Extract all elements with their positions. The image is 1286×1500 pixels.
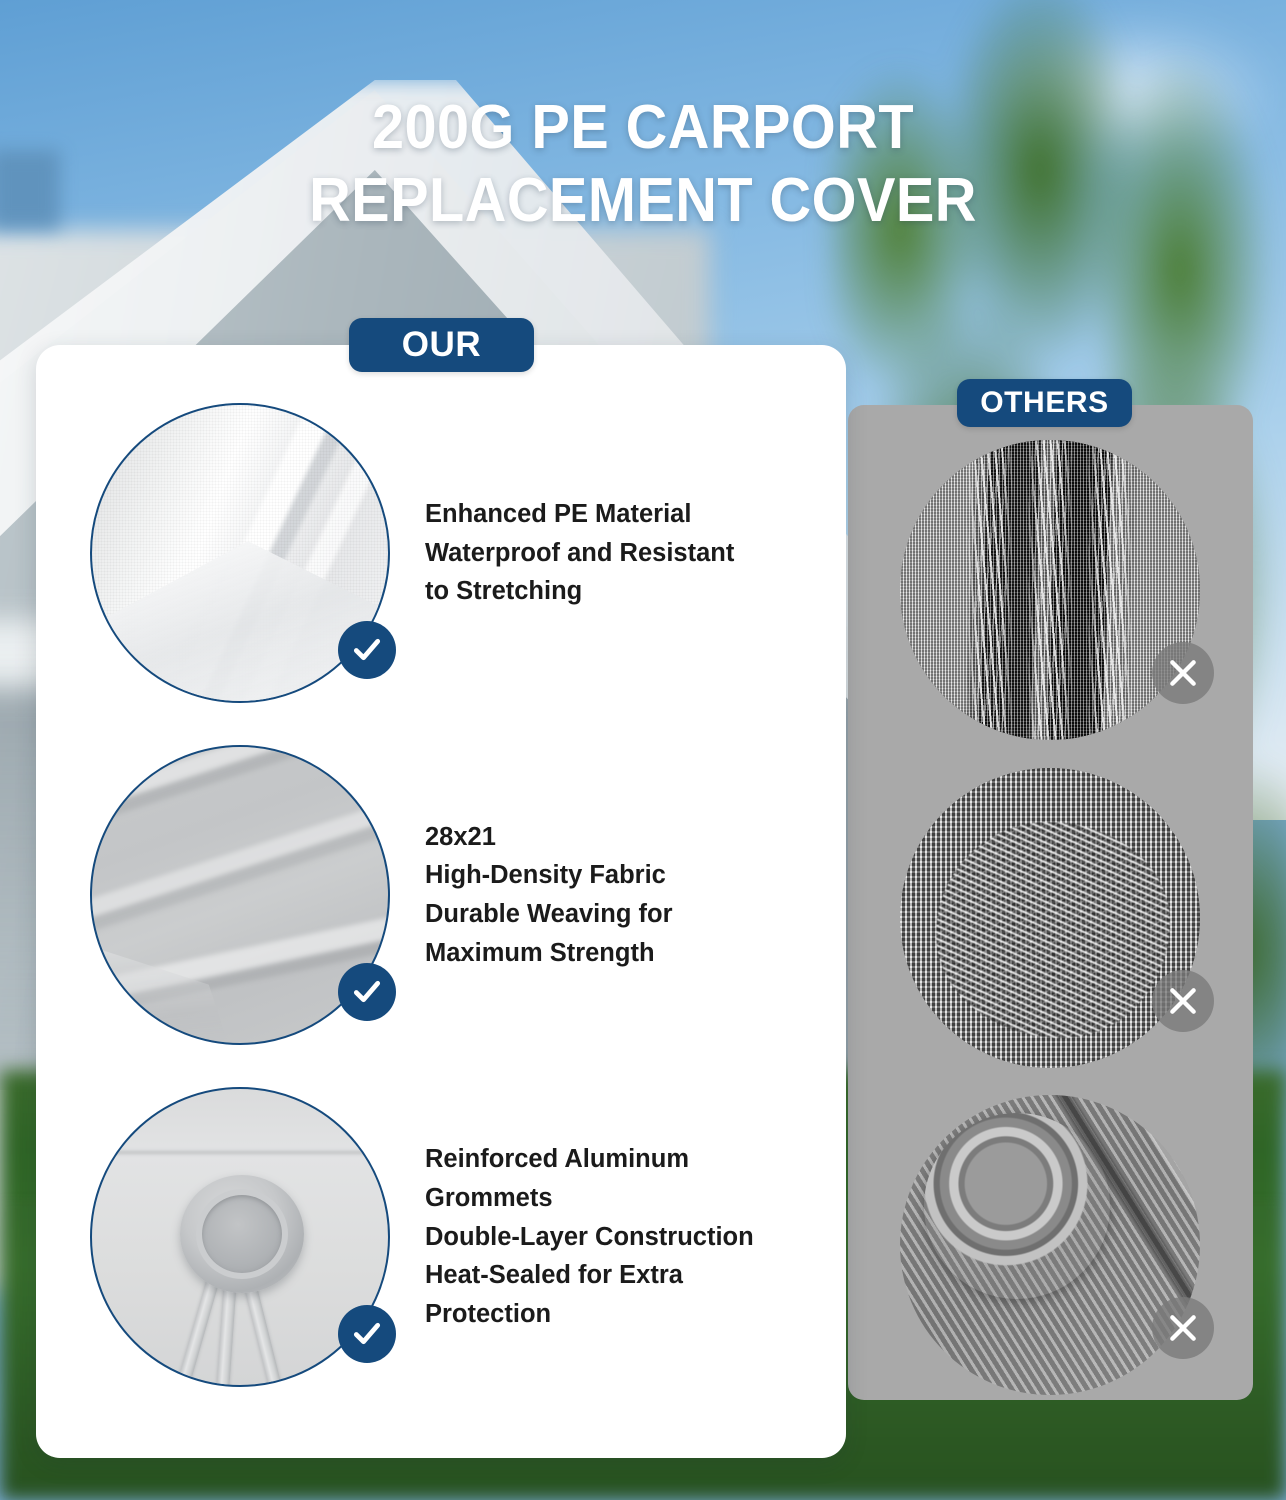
- infographic-page: 200G PE CARPORT REPLACEMENT COVER: [0, 0, 1286, 1500]
- others-panel: [848, 405, 1253, 1400]
- page-title: 200G PE CARPORT REPLACEMENT COVER: [45, 92, 1241, 237]
- check-icon: [351, 1318, 383, 1350]
- others-feature-row-1: [900, 440, 1200, 740]
- our-feature-row-3: Reinforced Aluminum Grommets Double-Laye…: [36, 1082, 846, 1392]
- our-feature-text-1: Enhanced PE Material Waterproof and Resi…: [425, 495, 734, 611]
- our-badge: OUR: [349, 318, 534, 372]
- our-feature-row-1: Enhanced PE Material Waterproof and Resi…: [36, 398, 846, 708]
- others-feature-row-3: [900, 1095, 1200, 1395]
- check-badge-1: [338, 621, 396, 679]
- grommet-inner-ring: [196, 1189, 288, 1279]
- our-card: Enhanced PE Material Waterproof and Resi…: [36, 345, 846, 1458]
- others-badge: OTHERS: [957, 379, 1132, 427]
- our-feature-row-2: 28x21 High-Density Fabric Durable Weavin…: [36, 740, 846, 1050]
- our-feature-text-2: 28x21 High-Density Fabric Durable Weavin…: [425, 818, 673, 973]
- our-feature-image-wrap-1: [90, 403, 390, 703]
- tarp-crease-texture: [900, 1095, 1200, 1395]
- frayed-threads-texture: [900, 440, 1200, 740]
- x-badge-3: [1152, 1297, 1214, 1359]
- loose-burlap-weave-photo: [900, 768, 1200, 1068]
- others-feature-row-2: [900, 768, 1200, 1068]
- our-feature-text-3: Reinforced Aluminum Grommets Double-Laye…: [425, 1140, 754, 1334]
- grommet-outer-ring: [180, 1175, 304, 1293]
- check-badge-3: [338, 1305, 396, 1363]
- worn-grommet-on-tarp-photo: [900, 1095, 1200, 1395]
- our-feature-image-wrap-3: [90, 1087, 390, 1387]
- x-icon: [1166, 984, 1200, 1018]
- check-badge-2: [338, 963, 396, 1021]
- x-badge-2: [1152, 970, 1214, 1032]
- our-feature-image-wrap-2: [90, 745, 390, 1045]
- torn-frayed-fabric-photo: [900, 440, 1200, 740]
- check-icon: [351, 634, 383, 666]
- x-icon: [1166, 656, 1200, 690]
- check-icon: [351, 976, 383, 1008]
- x-badge-1: [1152, 642, 1214, 704]
- x-icon: [1166, 1311, 1200, 1345]
- tarp-seam-line: [92, 1151, 390, 1154]
